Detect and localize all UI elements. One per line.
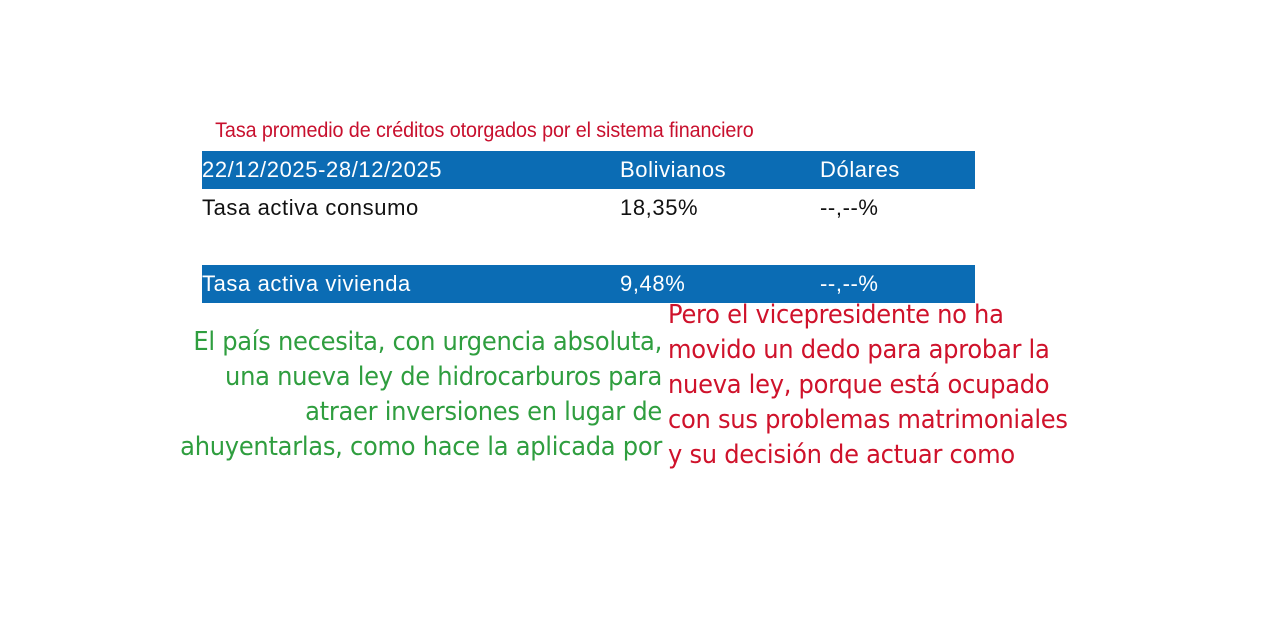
rate-table-title: Tasa promedio de créditos otorgados por … (202, 118, 929, 144)
red-quote-text: Pero el vicepresidente no ha movido un d… (668, 298, 1170, 473)
red-quote-line-2: movido un dedo para aprobar la (668, 333, 1170, 368)
red-quote-line-5: y su decisión de actuar como (668, 438, 1170, 473)
red-quote-line-4: con sus problemas matrimoniales (668, 403, 1170, 438)
table-row: Tasa activa consumo 18,35% --,--% (202, 189, 975, 227)
red-quote-line-3: nueva ley, porque está ocupado (668, 368, 1170, 403)
green-quote-line-2: una nueva ley de hidrocarburos para (74, 360, 662, 395)
red-quote-line-1: Pero el vicepresidente no ha (668, 298, 1170, 333)
commentary-section: El país necesita, con urgencia absoluta,… (0, 293, 1266, 503)
rate-table-body: 22/12/2025-28/12/2025 Bolivianos Dólares… (202, 151, 975, 303)
green-quote-line-1: El país necesita, con urgencia absoluta, (74, 325, 662, 360)
rate-table-block: Tasa promedio de créditos otorgados por … (202, 118, 975, 303)
row-label-tasa-activa-consumo: Tasa activa consumo (202, 189, 620, 227)
page-root: { "colors": { "table_blue": "#0b6cb4", "… (0, 0, 1266, 619)
green-quote-line-4: ahuyentarlas, como hace la aplicada por (74, 430, 662, 465)
spacer-cell-2 (620, 227, 820, 265)
column-header-bolivianos: Bolivianos (620, 151, 820, 189)
row-value-consumo-bolivianos: 18,35% (620, 189, 820, 227)
column-header-dolares: Dólares (820, 151, 975, 189)
table-row-spacer (202, 227, 975, 265)
spacer-cell-1 (202, 227, 620, 265)
column-header-period: 22/12/2025-28/12/2025 (202, 151, 620, 189)
table-header-row: 22/12/2025-28/12/2025 Bolivianos Dólares (202, 151, 975, 189)
rate-table: 22/12/2025-28/12/2025 Bolivianos Dólares… (202, 151, 975, 303)
green-quote-line-3: atraer inversiones en lugar de (74, 395, 662, 430)
green-quote-text: El país necesita, con urgencia absoluta,… (74, 325, 662, 465)
spacer-cell-3 (820, 227, 975, 265)
row-value-consumo-dolares: --,--% (820, 189, 975, 227)
